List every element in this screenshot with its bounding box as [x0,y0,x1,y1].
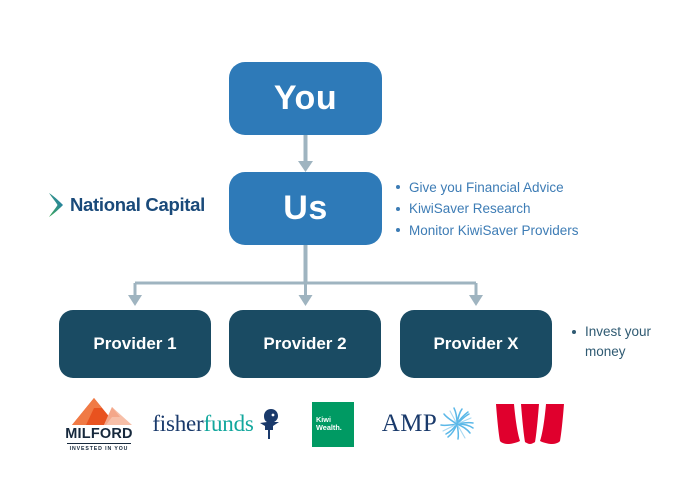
chevron-right-icon [48,192,65,218]
fisher-funds-wordmark: fisherfunds [152,411,253,437]
node-provider-2-label: Provider 2 [263,334,346,354]
us-service-text: Monitor KiwiSaver Providers [409,223,579,238]
national-capital-logo[interactable]: National Capital [48,192,205,218]
node-provider-x[interactable]: Provider X [400,310,552,378]
node-us[interactable]: Us [229,172,382,245]
mountain-icon [64,396,134,426]
logo-milford[interactable]: MILFORD INVESTED IN YOU [56,393,142,455]
starburst-icon [438,405,476,443]
milford-wordmark: MILFORD [65,427,132,442]
us-service-text: Give you Financial Advice [409,180,564,195]
provider-service-text: Invest your money [585,324,651,359]
logo-fisher-funds[interactable]: fisherfunds [146,393,286,455]
amp-wordmark: AMP [382,410,437,438]
kingfisher-bird-icon [258,407,280,441]
kiwi-wealth-line-2: Wealth. [316,424,342,432]
national-capital-wordmark: National Capital [70,194,205,216]
node-you-label: You [274,79,337,118]
provider-logo-strip: MILFORD INVESTED IN YOU fisherfunds Kiwi… [50,393,580,455]
node-provider-1-label: Provider 1 [93,334,176,354]
us-service-text: KiwiSaver Research [409,201,531,216]
node-you[interactable]: You [229,62,382,135]
provider-services-list: Invest your money [572,322,684,363]
logo-westpac[interactable] [484,393,576,455]
green-square-icon: Kiwi Wealth. [312,402,354,447]
fisher-word: fisher [152,411,203,436]
kiwi-wealth-wordmark: Kiwi Wealth. [316,416,342,432]
list-item: KiwiSaver Research [396,198,579,219]
diagram-canvas: You Us Provider 1 Provider 2 Provider X … [0,0,700,504]
node-us-label: Us [283,189,327,228]
list-item: Invest your money [572,322,684,363]
funds-word: funds [204,411,254,436]
milford-tagline: INVESTED IN YOU [70,446,129,452]
milford-divider [67,443,131,444]
list-item: Monitor KiwiSaver Providers [396,220,579,241]
westpac-w-icon [494,401,566,447]
node-provider-x-label: Provider X [433,334,518,354]
node-provider-2[interactable]: Provider 2 [229,310,381,378]
list-item: Give you Financial Advice [396,177,579,198]
us-services-list: Give you Financial Advice KiwiSaver Rese… [396,177,579,241]
logo-kiwi-wealth[interactable]: Kiwi Wealth. [302,393,364,455]
logo-amp[interactable]: AMP [376,393,482,455]
node-provider-1[interactable]: Provider 1 [59,310,211,378]
